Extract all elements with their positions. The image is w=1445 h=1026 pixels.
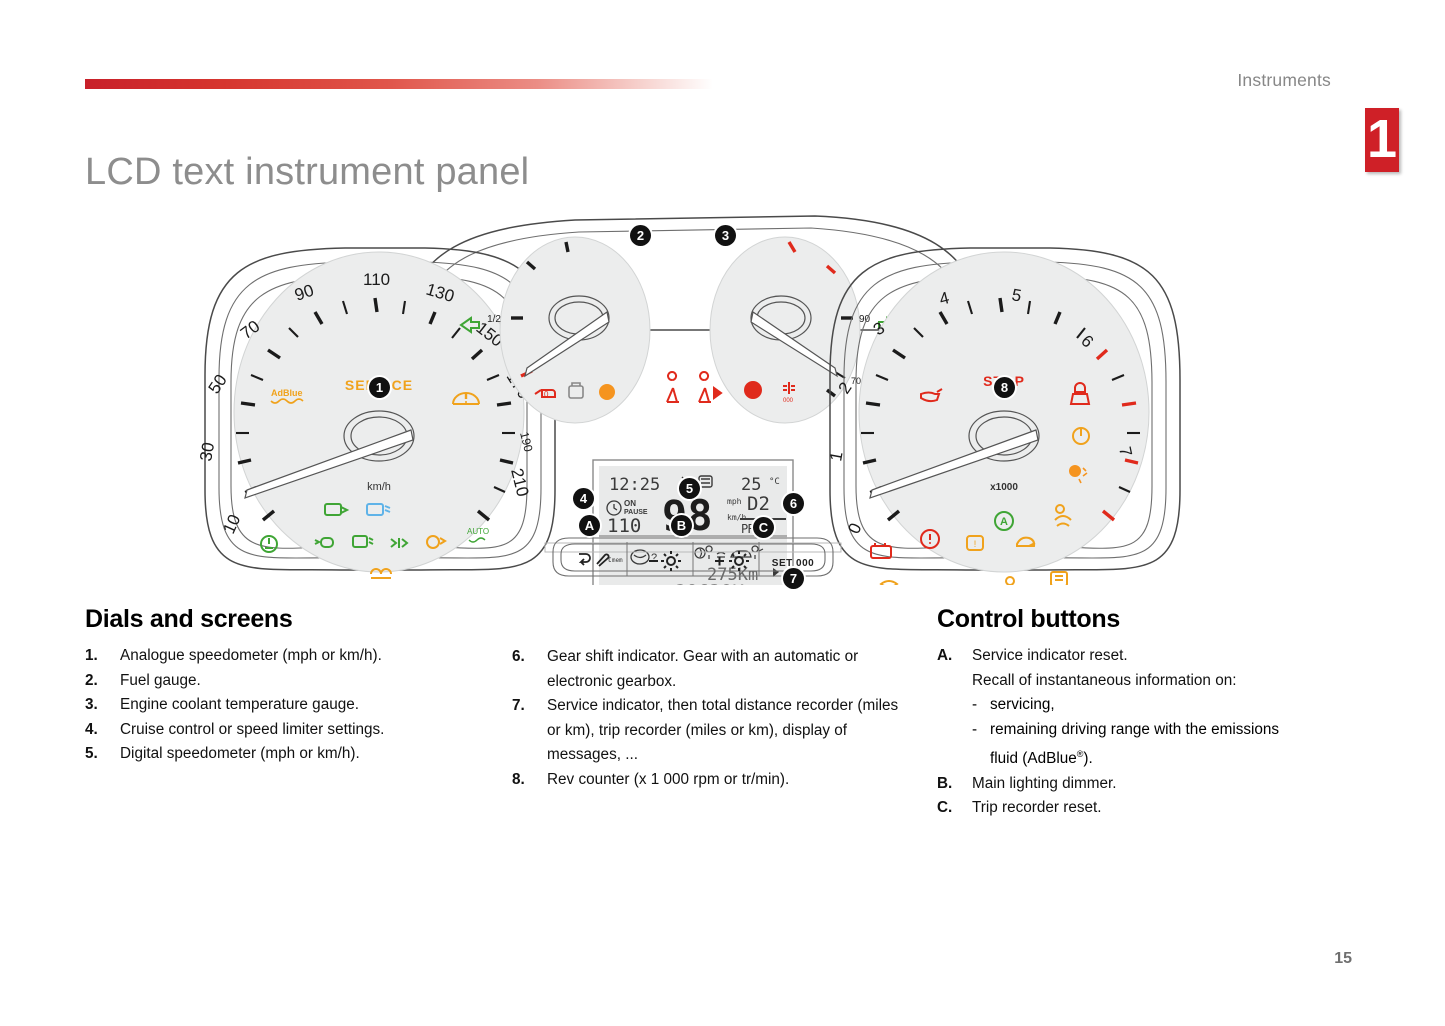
list-marker: B.: [937, 772, 972, 797]
callout-8: 8: [994, 377, 1015, 398]
sub-item: -remaining driving range with the emissi…: [972, 718, 1297, 772]
svg-text:?: ?: [651, 552, 657, 564]
chapter-number: 1: [1365, 108, 1399, 170]
callout-a: A: [579, 515, 600, 536]
svg-text:25: 25: [741, 475, 761, 495]
list-text: Service indicator, then total distance r…: [547, 694, 912, 768]
header-accent-rule: [85, 79, 713, 89]
svg-text:mph: mph: [727, 497, 742, 506]
svg-text:1/2: 1/2: [487, 314, 501, 325]
list-marker: 8.: [512, 768, 547, 793]
list-text: Trip recorder reset.: [972, 796, 1297, 821]
list-item: 5.Digital speedometer (mph or km/h).: [85, 742, 505, 767]
svg-text:x1000: x1000: [990, 482, 1018, 493]
page-title: LCD text instrument panel: [85, 151, 529, 194]
page-number: 15: [1334, 950, 1352, 968]
sub-text: remaining driving range with the emissio…: [990, 718, 1297, 772]
list-item: 7.Service indicator, then total distance…: [512, 694, 912, 768]
svg-text:°C: °C: [769, 477, 780, 487]
svg-text:AdBlue: AdBlue: [271, 388, 303, 398]
list-text: Cruise control or speed limiter settings…: [120, 718, 505, 743]
dials-list-right-column: 6.Gear shift indicator. Gear with an aut…: [512, 645, 912, 792]
chapter-tab: 1: [1365, 108, 1399, 172]
list-item: 6.Gear shift indicator. Gear with an aut…: [512, 645, 912, 694]
svg-text:0: 0: [844, 520, 865, 536]
control-sublist: -servicing, -remaining driving range wit…: [972, 693, 1297, 772]
list-marker: 3.: [85, 693, 120, 718]
callout-7: 7: [783, 568, 804, 589]
callout-5: 5: [679, 478, 700, 499]
list-marker: 4.: [85, 718, 120, 743]
callout-1: 1: [369, 377, 390, 398]
list-marker: A.: [937, 644, 972, 669]
svg-text:AUTO: AUTO: [467, 527, 489, 536]
control-list-bc: B.Main lighting dimmer. C.Trip recorder …: [937, 772, 1297, 821]
svg-text:km/h: km/h: [367, 481, 391, 493]
list-text: Digital speedometer (mph or km/h).: [120, 742, 505, 767]
svg-text:50: 50: [205, 371, 231, 397]
callout-6: 6: [783, 493, 804, 514]
dials-heading: Dials and screens: [85, 605, 505, 634]
svg-text:A: A: [1000, 516, 1008, 528]
svg-text:12:25: 12:25: [609, 475, 660, 495]
svg-text:km/h: km/h: [727, 513, 746, 522]
control-buttons-section: Control buttons A.Service indicator rese…: [937, 605, 1297, 821]
list-item: Recall of instantaneous information on:: [937, 669, 1297, 694]
dials-and-screens-section: Dials and screens 1.Analogue speedometer…: [85, 605, 505, 767]
sub-item: -servicing,: [972, 693, 1297, 718]
instrument-cluster-diagram: .out{fill:none;stroke:#4a4a4a;stroke-wid…: [175, 190, 1210, 585]
dials-list-left: 1.Analogue speedometer (mph or km/h). 2.…: [85, 644, 505, 767]
section-label: Instruments: [1237, 70, 1331, 91]
list-marker: 6.: [512, 645, 547, 694]
svg-text:10: 10: [219, 512, 244, 537]
sub-dash: -: [972, 693, 990, 718]
svg-text:110: 110: [607, 515, 641, 537]
list-marker: 7.: [512, 694, 547, 768]
list-marker: 5.: [85, 742, 120, 767]
sub-dash: -: [972, 718, 990, 772]
list-item: 8.Rev counter (x 1 000 rpm or tr/min).: [512, 768, 912, 793]
list-item: C.Trip recorder reset.: [937, 796, 1297, 821]
list-item: 2.Fuel gauge.: [85, 669, 505, 694]
list-text: Fuel gauge.: [120, 669, 505, 694]
list-item: 3.Engine coolant temperature gauge.: [85, 693, 505, 718]
sub-text: servicing,: [990, 693, 1055, 718]
list-text: Service indicator reset.: [972, 644, 1297, 669]
svg-text:210: 210: [507, 466, 532, 498]
callout-4: 4: [573, 488, 594, 509]
svg-text:30: 30: [196, 441, 218, 463]
svg-text:29638Km: 29638Km: [675, 581, 755, 585]
list-text: Engine coolant temperature gauge.: [120, 693, 505, 718]
svg-text:ON: ON: [624, 499, 636, 508]
list-marker: C.: [937, 796, 972, 821]
svg-text:000: 000: [783, 398, 794, 404]
list-item: A.Service indicator reset.: [937, 644, 1297, 669]
svg-text:!: !: [974, 539, 977, 549]
control-heading: Control buttons: [937, 605, 1297, 634]
callout-3: 3: [715, 225, 736, 246]
list-text: Recall of instantaneous information on:: [972, 669, 1297, 694]
list-text: Analogue speedometer (mph or km/h).: [120, 644, 505, 669]
list-item: B.Main lighting dimmer.: [937, 772, 1297, 797]
list-item: 4.Cruise control or speed limiter settin…: [85, 718, 505, 743]
sub-text-main: remaining driving range with the emissio…: [990, 721, 1279, 768]
control-list: A.Service indicator reset. Recall of ins…: [937, 644, 1297, 693]
dials-list-right: 6.Gear shift indicator. Gear with an aut…: [512, 645, 912, 792]
sub-text-tail: ).: [1083, 750, 1092, 767]
list-item: 1.Analogue speedometer (mph or km/h).: [85, 644, 505, 669]
list-marker: [937, 669, 972, 694]
svg-text:0: 0: [544, 390, 549, 399]
list-marker: 1.: [85, 644, 120, 669]
callout-b: B: [671, 515, 692, 536]
list-text: Rev counter (x 1 000 rpm or tr/min).: [547, 768, 912, 793]
list-marker: 2.: [85, 669, 120, 694]
callout-2: 2: [630, 225, 651, 246]
svg-text:110: 110: [363, 270, 390, 289]
list-text: Gear shift indicator. Gear with an autom…: [547, 645, 912, 694]
list-text: Main lighting dimmer.: [972, 772, 1297, 797]
callout-c: C: [753, 517, 774, 538]
svg-text:D2: D2: [747, 493, 770, 515]
